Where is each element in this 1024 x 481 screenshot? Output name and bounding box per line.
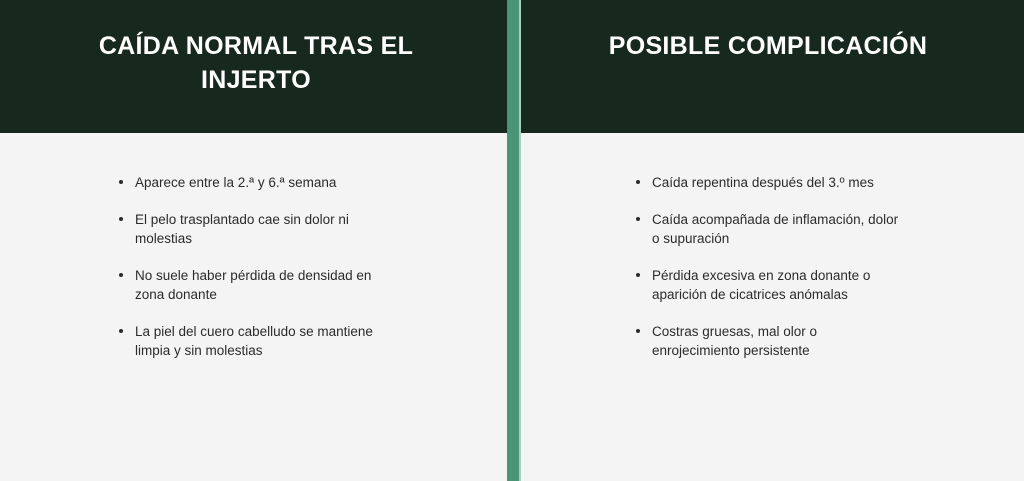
list-item-text: Caída acompañada de inflamación, dolor o… <box>652 212 898 246</box>
column-title-left: CAÍDA NORMAL TRAS EL INJERTO <box>0 0 512 133</box>
list-item-text: Costras gruesas, mal olor o enrojecimien… <box>652 324 817 358</box>
bullet-dot-icon <box>636 180 640 184</box>
bullet-dot-icon <box>119 329 123 333</box>
comparison-board: CAÍDA NORMAL TRAS EL INJERTO POSIBLE COM… <box>0 0 1024 481</box>
bullet-list-right: Caída repentina después del 3.º mes Caíd… <box>635 173 903 360</box>
bullet-dot-icon <box>119 180 123 184</box>
list-item: La piel del cuero cabelludo se mantiene … <box>118 322 386 360</box>
bullet-dot-icon <box>636 329 640 333</box>
list-item: Caída acompañada de inflamación, dolor o… <box>635 210 903 248</box>
list-item: No suele haber pérdida de densidad en zo… <box>118 266 386 304</box>
column-body-right: Caída repentina después del 3.º mes Caíd… <box>512 133 1024 481</box>
column-body-left: Aparece entre la 2.ª y 6.ª semana El pel… <box>0 133 512 481</box>
header-cell-left: CAÍDA NORMAL TRAS EL INJERTO <box>0 0 512 133</box>
bullet-dot-icon <box>636 273 640 277</box>
list-item: Caída repentina después del 3.º mes <box>635 173 903 192</box>
list-item-text: El pelo trasplantado cae sin dolor ni mo… <box>135 212 349 246</box>
list-item-text: Aparece entre la 2.ª y 6.ª semana <box>135 175 336 190</box>
list-item: Pérdida excesiva en zona donante o apari… <box>635 266 903 304</box>
list-item: Aparece entre la 2.ª y 6.ª semana <box>118 173 386 192</box>
bullet-dot-icon <box>119 273 123 277</box>
list-item-text: La piel del cuero cabelludo se mantiene … <box>135 324 373 358</box>
list-item: El pelo trasplantado cae sin dolor ni mo… <box>118 210 386 248</box>
list-item: Costras gruesas, mal olor o enrojecimien… <box>635 322 903 360</box>
column-divider <box>507 0 519 481</box>
column-title-right: POSIBLE COMPLICACIÓN <box>549 0 988 133</box>
bullet-dot-icon <box>636 217 640 221</box>
bullet-list-left: Aparece entre la 2.ª y 6.ª semana El pel… <box>118 173 386 360</box>
list-item-text: No suele haber pérdida de densidad en zo… <box>135 268 371 302</box>
bullet-dot-icon <box>119 217 123 221</box>
list-item-text: Caída repentina después del 3.º mes <box>652 175 874 190</box>
column-divider-edge <box>519 0 521 481</box>
header-cell-right: POSIBLE COMPLICACIÓN <box>512 0 1024 133</box>
list-item-text: Pérdida excesiva en zona donante o apari… <box>652 268 870 302</box>
